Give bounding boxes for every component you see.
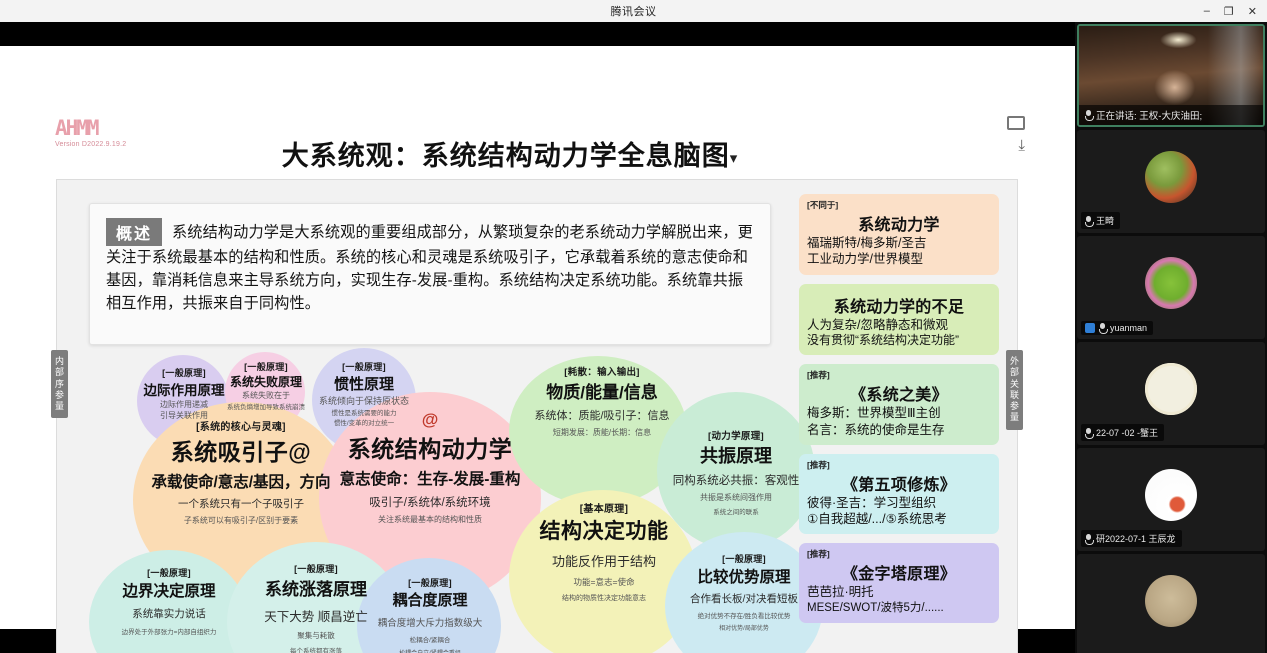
bubble-kicker: [一般原理] [217, 360, 315, 373]
participant-name-text: 研2022-07-1 王辰龙 [1096, 532, 1176, 545]
participant-tile[interactable]: 王畸 [1077, 130, 1265, 233]
bubble-label: [一般原理] 系统失败原理 系统失败在于 系统负熵增加导致系统崩溃 [217, 360, 315, 411]
card-line: 工业动力学/世界模型 [807, 251, 991, 267]
card-kicker: [不同于] [807, 199, 991, 211]
card-title: 系统动力学 [807, 211, 991, 235]
bubble-title: 物质/能量/信息 [513, 378, 691, 403]
bubble-kicker: [一般原理] [353, 576, 507, 589]
bubble-sub: 松耦合/紧耦合 [353, 634, 507, 644]
participant-name-text: yuanman [1110, 323, 1147, 333]
participant-rail[interactable]: 正在讲话: 王权-大庆油田; 王畸 yuanman 22-07 -02 -蟹王 [1075, 22, 1267, 653]
bubble-sub: 系统失败在于 [217, 390, 315, 401]
bubble-label: [耗散：输入输出] 物质/能量/信息 系统体：质能/吸引子：信息 短期发展：质能… [513, 364, 691, 438]
bubble-kicker: [动力学原理] [655, 428, 817, 442]
bubble-title: 系统失败原理 [217, 373, 315, 390]
shared-screen-stage: AHMM Version D2022.9.19.2 大系统观：系统结构动力学全息… [0, 22, 1075, 653]
card-line: 芭芭拉·明托 [807, 584, 991, 600]
bubble-sub: 意志使命：生存-发展-重构 [305, 467, 555, 489]
mindmap-board: 内部序参量 外部关联参量 概述系统结构动力学是大系统观的重要组成部分，从繁琐复杂… [56, 179, 1018, 653]
participant-name-text: 正在讲话: 王权-大庆油田; [1096, 108, 1202, 122]
reference-card[interactable]: 系统动力学的不足 人为复杂/忽略静态和微观 没有贯彻“系统结构决定功能” [799, 284, 999, 356]
app-root: 腾讯会议 – ❐ ✕ AHMM Version D2022.9.19.2 大系统… [0, 0, 1267, 653]
bubble-title: 惯性原理 [309, 373, 419, 394]
window-controls: – ❐ ✕ [1204, 0, 1263, 22]
card-line: 福瑞斯特/梅多斯/圣吉 [807, 235, 991, 251]
card-title: 《第五项修炼》 [807, 471, 991, 495]
bubble-sub: 系统体：质能/吸引子：信息 [513, 407, 691, 423]
bubble-title: 耦合度原理 [353, 589, 507, 610]
microphone-icon [1085, 216, 1092, 226]
card-line: ①自我超越/.../⑤系统思考 [807, 511, 991, 527]
card-line: 没有贯彻“系统结构决定功能” [807, 333, 991, 349]
participant-tile[interactable]: 22-07 -02 -蟹王 [1077, 342, 1265, 445]
card-title: 《系统之美》 [807, 381, 991, 405]
reference-card[interactable]: [不同于] 系统动力学 福瑞斯特/梅多斯/圣吉 工业动力学/世界模型 [799, 194, 999, 275]
bubble-sub: 同构系统必共振：客观性 [655, 472, 817, 488]
bubble-sub: 系统负熵增加导致系统崩溃 [217, 401, 315, 411]
restore-icon[interactable]: ❐ [1224, 5, 1234, 18]
minimize-icon[interactable]: – [1204, 5, 1210, 17]
card-kicker: [推荐] [807, 548, 991, 560]
reference-card[interactable]: [推荐] 《金字塔原理》 芭芭拉·明托 MESE/SWOT/波特5力/.....… [799, 543, 999, 622]
microphone-icon [1099, 323, 1106, 333]
avatar [1145, 469, 1197, 521]
bubble-title: 结构决定功能 [507, 515, 701, 545]
bubble-sub: 系统倾向于保持原状态 [309, 394, 419, 407]
participant-name: yuanman [1081, 321, 1153, 335]
download-icon[interactable]: ⤓ [1018, 138, 1025, 153]
card-line: 彼得·圣吉：学习型组织 [807, 495, 991, 511]
host-badge-icon [1085, 323, 1095, 333]
avatar [1145, 257, 1197, 309]
participant-name-text: 22-07 -02 -蟹王 [1096, 426, 1158, 439]
microphone-icon [1085, 428, 1092, 438]
avatar [1145, 575, 1197, 627]
bubble-kicker: [耗散：输入输出] [513, 364, 691, 378]
slide-canvas: AHMM Version D2022.9.19.2 大系统观：系统结构动力学全息… [0, 46, 1075, 629]
page-title: 大系统观：系统结构动力学全息脑图▾ [0, 134, 1020, 173]
card-line: MESE/SWOT/波特5力/...... [807, 601, 991, 616]
card-line: 名言：系统的使命是生存 [807, 422, 991, 438]
participant-tile[interactable] [1077, 554, 1265, 653]
microphone-icon [1085, 110, 1092, 120]
page-title-text: 大系统观：系统结构动力学全息脑图 [282, 141, 730, 171]
reference-card-list: [不同于] 系统动力学 福瑞斯特/梅多斯/圣吉 工业动力学/世界模型 系统动力学… [799, 194, 999, 632]
bubble-label: [一般原理] 耦合度原理 耦合度增大斥力指数级大 松耦合/紧耦合 松耦合自立/紧… [353, 576, 507, 653]
participant-name-text: 王畸 [1096, 214, 1114, 227]
card-kicker: [推荐] [807, 459, 991, 471]
reference-card[interactable]: [推荐] 《第五项修炼》 彼得·圣吉：学习型组织 ①自我超越/.../⑤系统思考 [799, 454, 999, 535]
avatar [1145, 363, 1197, 415]
card-title: 系统动力学的不足 [807, 293, 991, 317]
participant-tile[interactable]: 正在讲话: 王权-大庆油田; [1077, 24, 1265, 127]
bubble-sub: 松耦合自立/紧耦合重组 [353, 648, 507, 653]
chevron-down-icon[interactable]: ▾ [730, 150, 739, 167]
bubble-kicker: [基本原理] [507, 500, 701, 515]
bubble-kicker: [一般原理] [309, 360, 419, 373]
card-title: 《金字塔原理》 [807, 560, 991, 584]
window-titlebar: 腾讯会议 – ❐ ✕ [0, 0, 1267, 22]
microphone-icon [1085, 534, 1092, 544]
card-line: 梅多斯：世界模型Ⅲ主创 [807, 405, 991, 421]
participant-name: 王畸 [1081, 212, 1120, 229]
screen-icon[interactable] [1007, 116, 1025, 130]
reference-card[interactable]: [推荐] 《系统之美》 梅多斯：世界模型Ⅲ主创 名言：系统的使命是生存 [799, 364, 999, 445]
participant-name: 正在讲话: 王权-大庆油田; [1079, 105, 1263, 125]
card-kicker: [推荐] [807, 369, 991, 381]
close-icon[interactable]: ✕ [1248, 5, 1257, 18]
participant-name: 22-07 -02 -蟹王 [1081, 424, 1164, 441]
avatar [1145, 151, 1197, 203]
bubble-sub: 耦合度增大斥力指数级大 [353, 615, 507, 629]
participant-name: 研2022-07-1 王辰龙 [1081, 530, 1182, 547]
bubble-kicker: [一般原理] [221, 562, 411, 575]
window-title: 腾讯会议 [611, 3, 657, 19]
participant-tile[interactable]: 研2022-07-1 王辰龙 [1077, 448, 1265, 551]
participant-tile[interactable]: yuanman [1077, 236, 1265, 339]
bubble-title: 共振原理 [655, 442, 817, 468]
card-line: 人为复杂/忽略静态和微观 [807, 317, 991, 333]
